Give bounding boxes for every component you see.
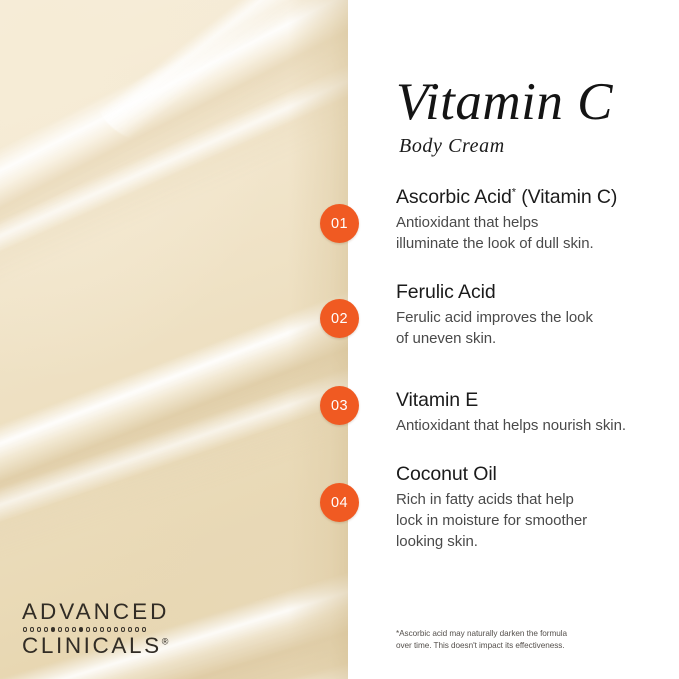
ingredient-block: Vitamin EAntioxidant that helps nourish … — [396, 389, 626, 436]
logo-dot — [93, 627, 97, 631]
logo-dot — [142, 627, 146, 631]
logo-dot — [114, 627, 118, 631]
brand-logo-line-advanced: ADVANCED — [22, 600, 222, 623]
brand-logo-dot-row — [23, 625, 222, 633]
logo-dot — [128, 627, 132, 631]
ingredient-block: Coconut OilRich in fatty acids that help… — [396, 463, 587, 553]
logo-dot — [23, 627, 27, 631]
logo-dot — [86, 627, 90, 631]
ingredient-heading: Ascorbic Acid* (Vitamin C) — [396, 186, 617, 210]
ingredient-heading-text: Vitamin E — [396, 389, 478, 411]
logo-dot — [100, 627, 104, 631]
ingredient-description-line: Antioxidant that helps nourish skin. — [396, 415, 626, 436]
logo-dot — [135, 627, 139, 631]
logo-dot — [107, 627, 111, 631]
brand-logo: ADVANCED CLINICALS® — [22, 600, 222, 658]
ingredient-description-line: of uneven skin. — [396, 328, 593, 349]
brand-logo-clinicals-text: CLINICALS — [22, 633, 162, 658]
ingredient-description: Antioxidant that helpsilluminate the loo… — [396, 212, 617, 255]
brand-logo-line-clinicals: CLINICALS® — [22, 634, 222, 657]
ingredient-heading: Ferulic Acid — [396, 281, 593, 305]
logo-dot — [121, 627, 125, 631]
ingredient-description-line: looking skin. — [396, 531, 587, 552]
ingredient-heading-text: Coconut Oil — [396, 463, 497, 485]
logo-dot — [65, 627, 69, 631]
ingredient-description-line: Rich in fatty acids that help — [396, 489, 587, 510]
ingredient-block: Ascorbic Acid* (Vitamin C)Antioxidant th… — [396, 186, 617, 254]
logo-dot — [58, 627, 62, 631]
ingredient-description-line: Antioxidant that helps — [396, 212, 617, 233]
logo-dot — [30, 627, 34, 631]
logo-dot — [72, 627, 76, 631]
ingredient-heading: Coconut Oil — [396, 463, 587, 487]
logo-dot — [51, 627, 55, 631]
content-column: Vitamin C Body Cream Ascorbic Acid* (Vit… — [396, 0, 662, 679]
ingredient-description-line: lock in moisture for smoother — [396, 510, 587, 531]
step-badge-03: 03 — [320, 386, 359, 425]
ingredient-description: Ferulic acid improves the lookof uneven … — [396, 307, 593, 350]
ingredient-block: Ferulic AcidFerulic acid improves the lo… — [396, 281, 593, 349]
ingredient-description: Antioxidant that helps nourish skin. — [396, 415, 626, 436]
ingredient-description-line: Ferulic acid improves the look — [396, 307, 593, 328]
step-badge-04: 04 — [320, 483, 359, 522]
ingredient-heading-text: Ascorbic Acid — [396, 186, 512, 208]
ingredient-heading: Vitamin E — [396, 389, 626, 413]
ingredient-description: Rich in fatty acids that helplock in moi… — [396, 489, 587, 553]
product-infographic: ADVANCED CLINICALS® Vitamin C Body Cream… — [0, 0, 679, 679]
registered-trademark-icon: ® — [162, 637, 169, 647]
panel-edge-shading — [288, 0, 348, 679]
step-badge-02: 02 — [320, 299, 359, 338]
ingredient-description-line: illuminate the look of dull skin. — [396, 233, 617, 254]
cream-texture-image: ADVANCED CLINICALS® — [0, 0, 348, 679]
footnote-line-2: over time. This doesn't impact its effec… — [396, 640, 624, 652]
ingredient-heading-suffix: (Vitamin C) — [516, 186, 617, 208]
ingredient-heading-text: Ferulic Acid — [396, 281, 496, 303]
footnote: *Ascorbic acid may naturally darken the … — [396, 628, 624, 653]
footnote-line-1: *Ascorbic acid may naturally darken the … — [396, 628, 624, 640]
logo-dot — [37, 627, 41, 631]
step-badge-01: 01 — [320, 204, 359, 243]
page-title: Vitamin C — [396, 76, 656, 129]
logo-dot — [79, 627, 83, 631]
page-subtitle: Body Cream — [399, 136, 505, 156]
logo-dot — [44, 627, 48, 631]
